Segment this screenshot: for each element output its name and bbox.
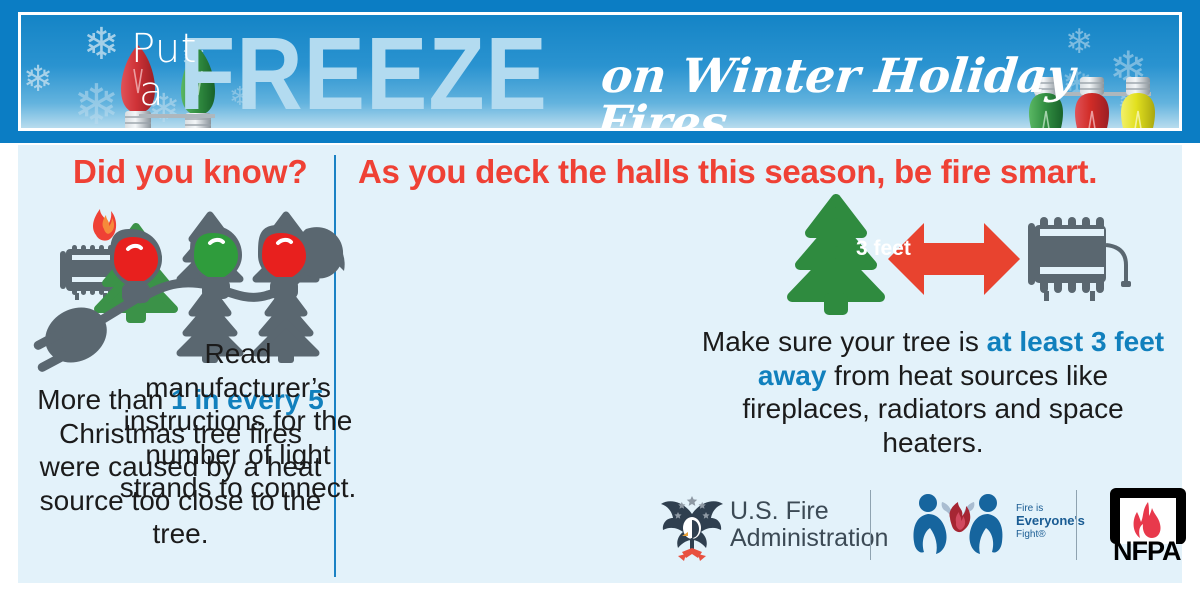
logo-separator-2 xyxy=(1076,490,1077,560)
usfa-eagle-icon xyxy=(658,484,726,568)
radiator-icon xyxy=(1028,217,1131,301)
nfpa-registered-mark: ® xyxy=(1178,536,1185,546)
logo-separator-1 xyxy=(870,490,871,560)
strand-bulb-red-2 xyxy=(258,225,310,299)
banner-a-word: a xyxy=(139,72,164,112)
usfa-label: U.S. Fire Administration xyxy=(730,498,888,552)
right-text-seg-1: Make sure your tree is xyxy=(702,326,987,357)
banner-freeze-word: FREEZE xyxy=(179,23,548,126)
right-column-text: Make sure your tree is at least 3 feet a… xyxy=(698,325,1168,459)
plug-icon xyxy=(32,297,116,373)
fief-line-3: Fight® xyxy=(1016,529,1085,540)
usfa-flame-icon xyxy=(678,548,706,561)
logo-row: U.S. Fire Administration Fire is Everyon… xyxy=(658,478,1178,574)
three-feet-label: 3 feet xyxy=(856,237,911,261)
banner-script-line: on Winter Holiday Fires xyxy=(594,53,1182,131)
header-banner-inner: ❄ ❄ ❄ ❄ ❄ ❄ ❄ ❄ ❄ ❄ xyxy=(18,12,1182,131)
right-section-heading: As you deck the halls this season, be fi… xyxy=(358,153,1097,191)
nfpa-label: NFPA xyxy=(1113,536,1181,567)
content-panel: Did you know? xyxy=(18,145,1182,583)
fief-label: Fire is Everyone's Fight® xyxy=(1016,503,1085,540)
middle-column-text: Read manufacturer’s instructions for the… xyxy=(108,337,368,505)
snowflake-icon: ❄ xyxy=(23,61,53,97)
banner-put-word: Put xyxy=(131,29,197,69)
right-illustration xyxy=(778,193,1138,333)
fief-line-2: Everyone's xyxy=(1016,514,1085,529)
header-banner: ❄ ❄ ❄ ❄ ❄ ❄ ❄ ❄ ❄ ❄ xyxy=(0,0,1200,143)
fire-is-everyones-fight-icon xyxy=(908,492,1008,558)
left-column-heading: Did you know? xyxy=(73,153,308,191)
